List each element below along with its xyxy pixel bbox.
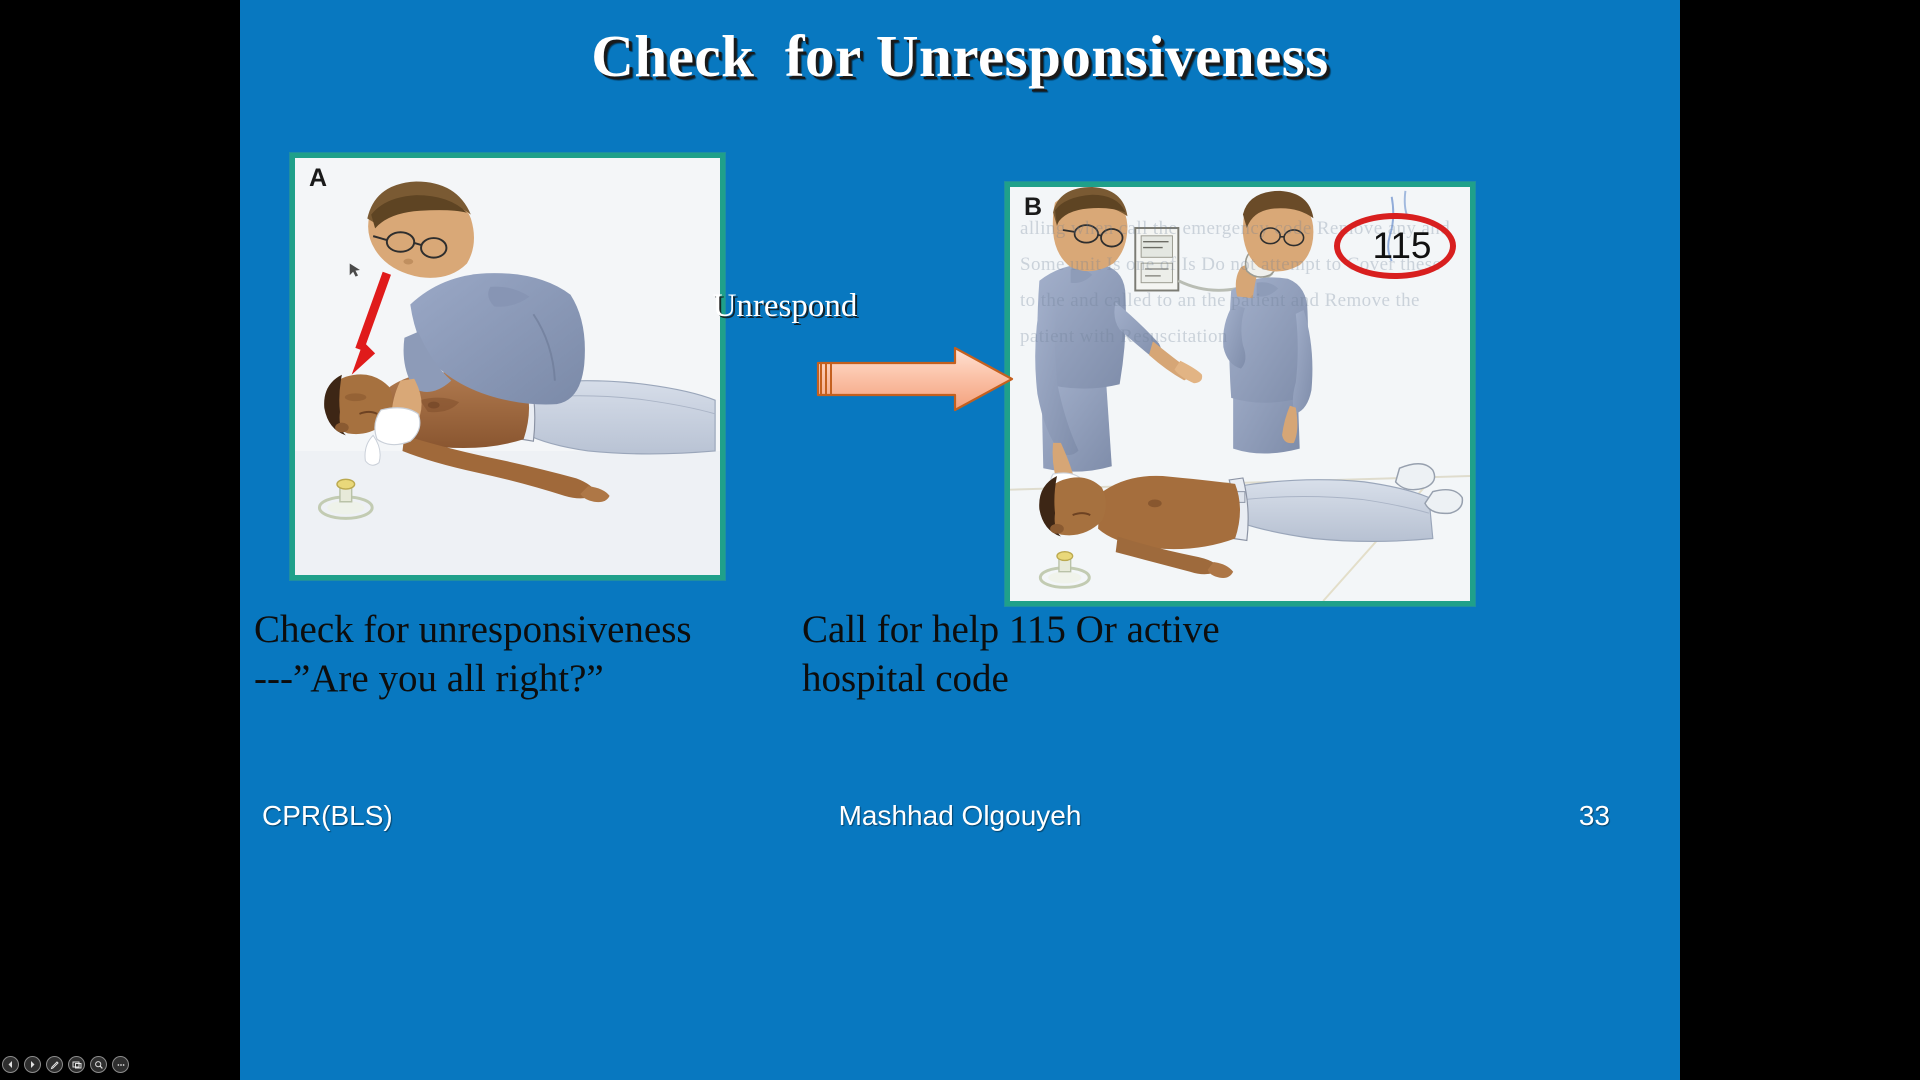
- footer-center: Mashhad Olgouyeh: [240, 800, 1680, 832]
- pen-icon[interactable]: [46, 1056, 63, 1073]
- right-arrow-icon: [815, 345, 1015, 413]
- zoom-icon[interactable]: [90, 1056, 107, 1073]
- transition-label: Unrespond: [635, 288, 935, 325]
- slide-canvas: Check for Unresponsiveness: [240, 0, 1680, 1080]
- check-unresponsiveness-illustration: [295, 158, 720, 575]
- slide-number: 33: [1579, 800, 1610, 832]
- panel-a-artwork: [295, 158, 720, 575]
- next-slide-icon[interactable]: [24, 1056, 41, 1073]
- transition-arrow: [815, 345, 1015, 413]
- presentation-toolbar[interactable]: [2, 1056, 129, 1073]
- slides-grid-icon[interactable]: [68, 1056, 85, 1073]
- emergency-number-annotation: 115: [1334, 213, 1456, 279]
- caption-left: Check for unresponsiveness ---”Are you a…: [254, 605, 774, 703]
- more-options-icon[interactable]: [112, 1056, 129, 1073]
- caption-right: Call for help 115 Or active hospital cod…: [802, 605, 1322, 703]
- panel-b-image: alling when call the emergency code Remo…: [1005, 182, 1475, 606]
- emergency-number-text: 115: [1334, 213, 1456, 279]
- panel-a-image: A: [290, 153, 725, 580]
- panel-a-label: A: [309, 164, 327, 193]
- previous-slide-icon[interactable]: [2, 1056, 19, 1073]
- presentation-stage: Check for Unresponsiveness: [0, 0, 1920, 1080]
- page-title: Check for Unresponsiveness: [240, 22, 1680, 91]
- panel-b-label: B: [1024, 193, 1042, 222]
